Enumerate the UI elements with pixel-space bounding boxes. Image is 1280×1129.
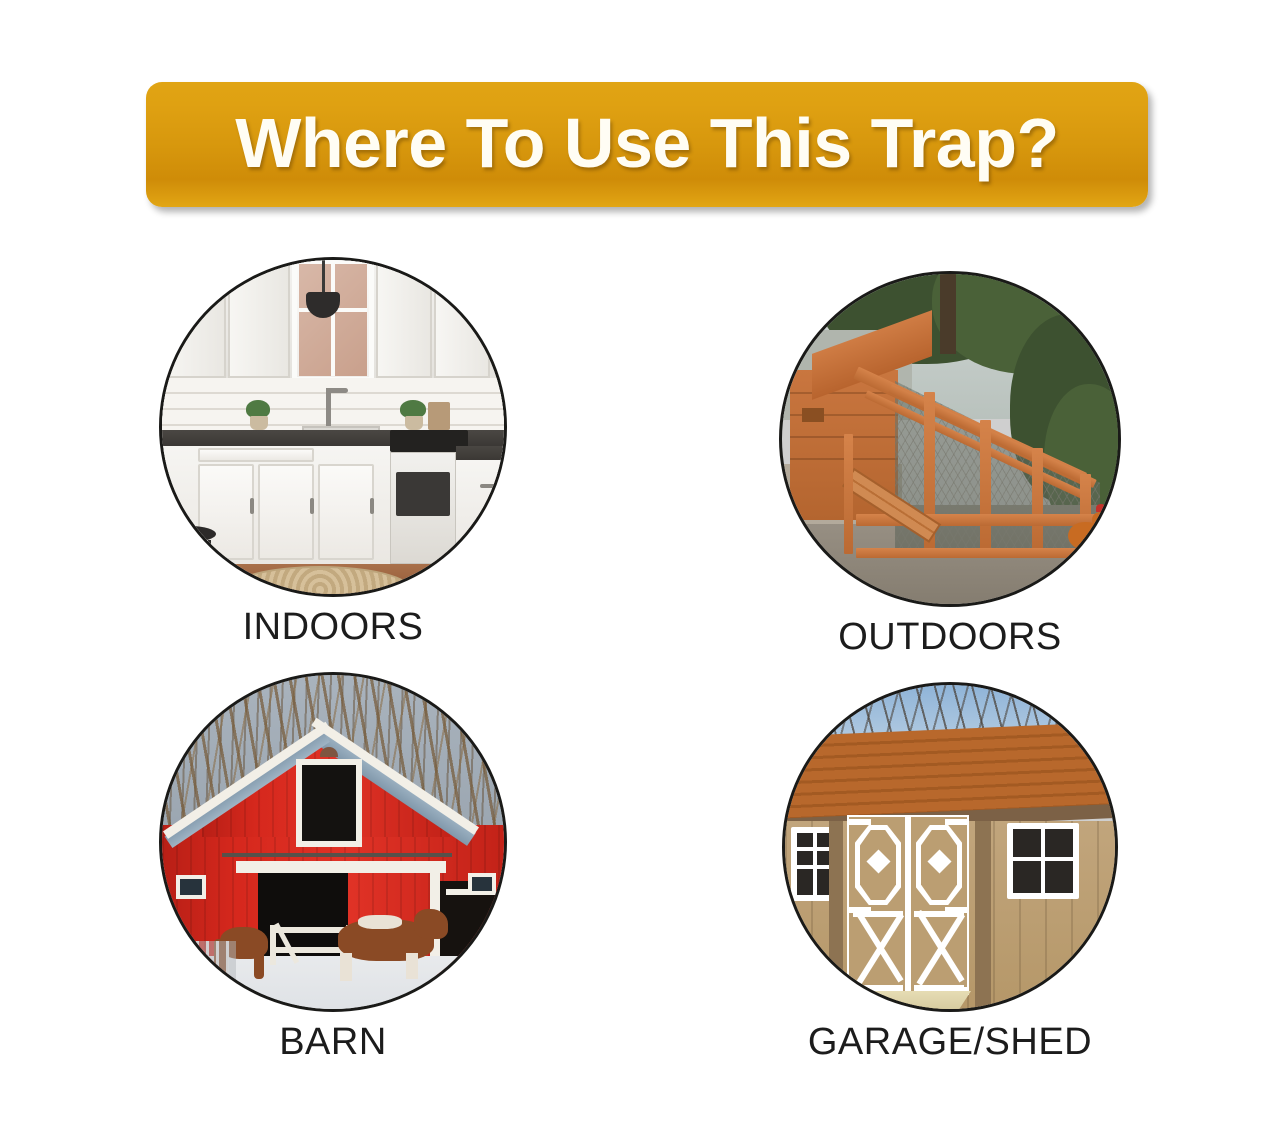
chicken-coop-scene xyxy=(782,274,1118,604)
outdoors-photo xyxy=(779,271,1121,607)
location-item-garage-shed[interactable]: GARAGE/SHED xyxy=(750,682,1150,1064)
barn-photo xyxy=(159,672,507,1012)
page-title: Where To Use This Trap? xyxy=(235,108,1058,178)
title-banner: Where To Use This Trap? xyxy=(146,82,1148,207)
garage-shed-photo xyxy=(782,682,1118,1012)
kitchen-scene xyxy=(162,260,504,594)
outdoors-label: OUTDOORS xyxy=(838,616,1062,659)
barn-label: BARN xyxy=(279,1021,387,1064)
location-grid: INDOORS xyxy=(0,255,1280,1085)
indoors-label: INDOORS xyxy=(243,606,424,649)
garage-shed-label: GARAGE/SHED xyxy=(808,1021,1092,1064)
location-item-outdoors[interactable]: OUTDOORS xyxy=(750,271,1150,659)
barn-scene xyxy=(162,675,504,1009)
indoors-photo xyxy=(159,257,507,597)
location-item-indoors[interactable]: INDOORS xyxy=(133,257,533,649)
location-item-barn[interactable]: BARN xyxy=(133,672,533,1064)
shed-scene xyxy=(785,685,1115,1009)
